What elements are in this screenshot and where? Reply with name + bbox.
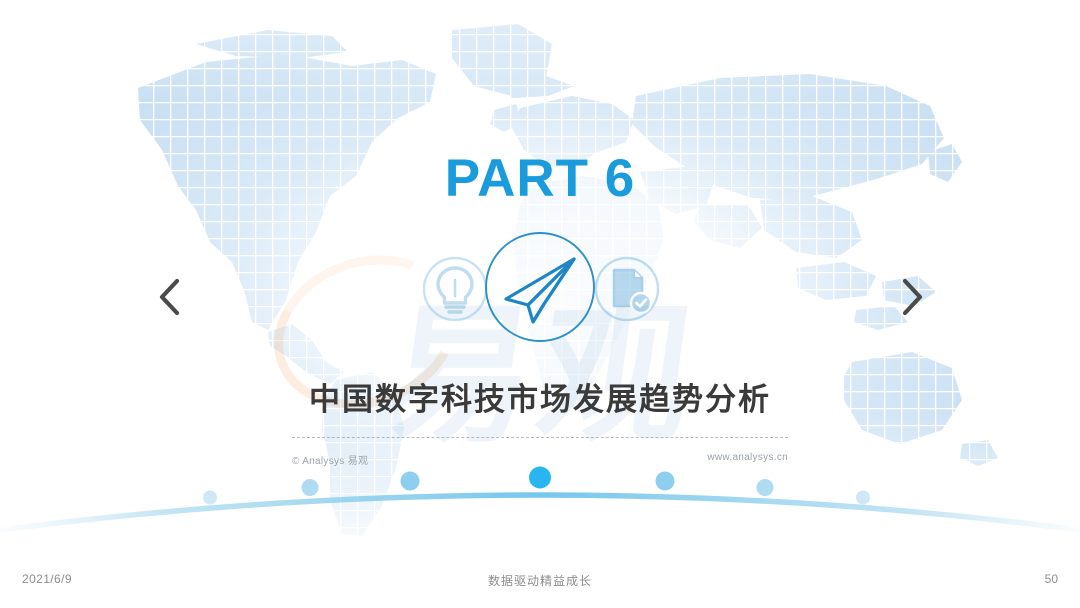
paper-plane-icon	[481, 228, 599, 346]
slide-footer: 2021/6/9 数据驱动精益成长 50	[0, 566, 1080, 608]
chevron-left-icon[interactable]	[148, 272, 192, 322]
page-title: 中国数字科技市场发展趋势分析	[0, 374, 1080, 419]
footer-slogan: 数据驱动精益成长	[0, 572, 1080, 589]
chevron-right-icon[interactable]	[890, 272, 934, 322]
progress-arc	[0, 452, 1080, 560]
part-label: PART 6	[0, 148, 1080, 209]
progress-arc-svg	[0, 452, 1080, 560]
presentation-slide: 易观 PART 6	[0, 0, 1080, 608]
document-check-icon	[584, 246, 670, 332]
credit-divider	[292, 437, 788, 438]
footer-page-number: 50	[1045, 572, 1058, 586]
